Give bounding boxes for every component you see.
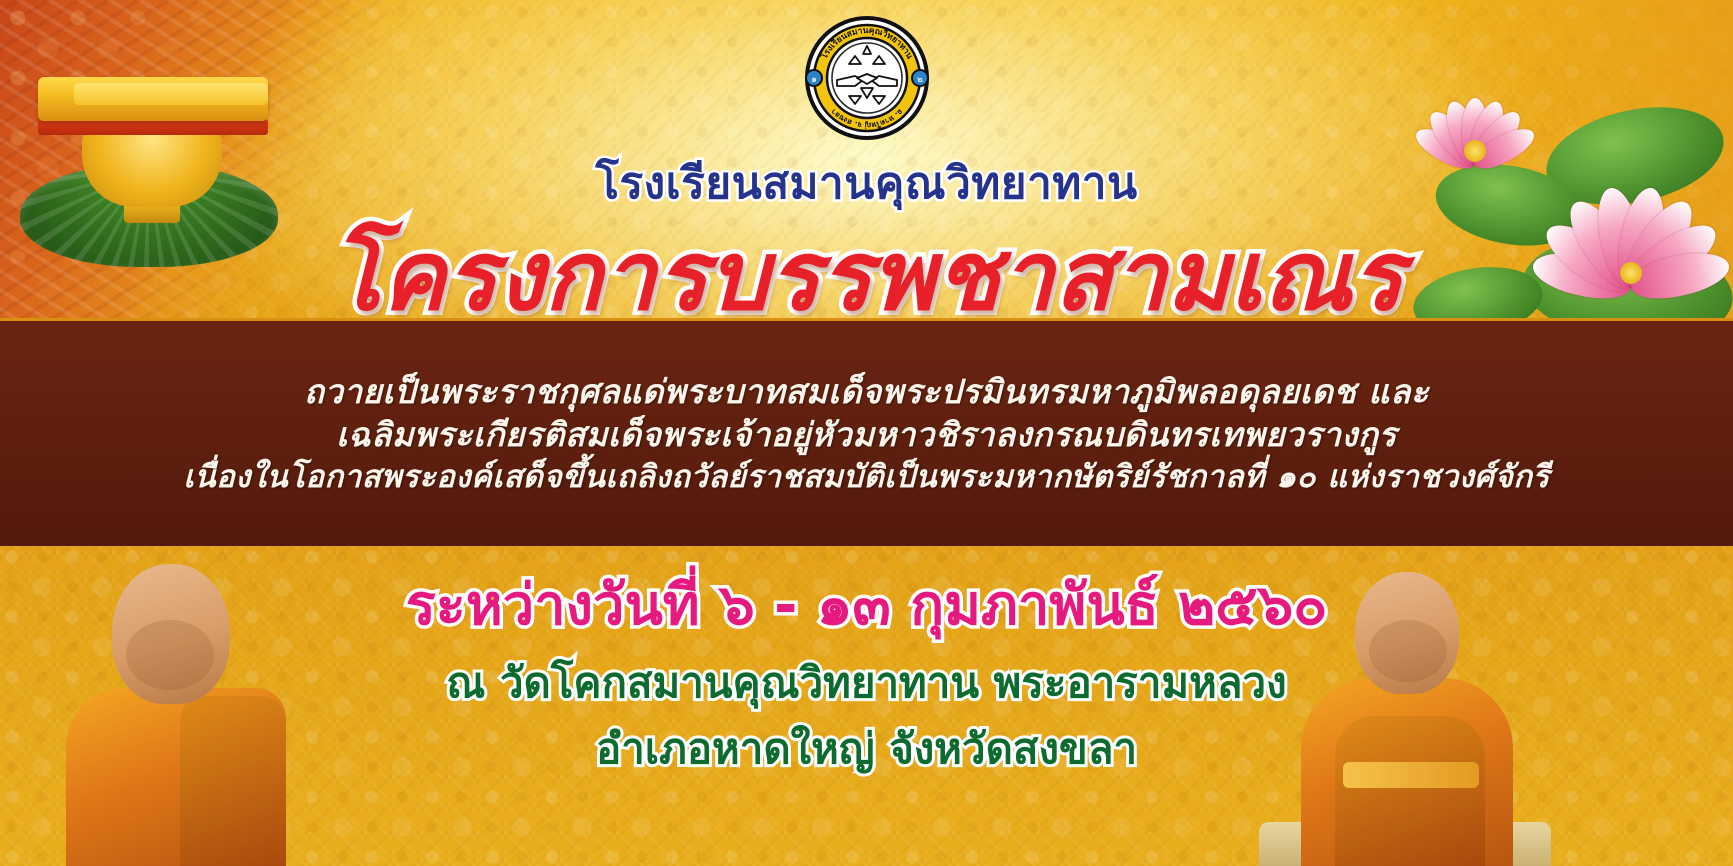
tray-red-band <box>38 119 268 135</box>
school-logo: โรงเรียนสมานคุณวิทยาทาน อ. หาดใหญ่ จ. สง… <box>803 14 931 142</box>
poster-banner: โรงเรียนสมานคุณวิทยาทาน อ. หาดใหญ่ จ. สง… <box>0 0 1733 866</box>
svg-text:๒: ๒ <box>917 75 923 85</box>
svg-text:๑: ๑ <box>811 75 817 85</box>
tray-lid-top <box>74 83 268 105</box>
dedication-line-1: ถวายเป็นพระราชกุศลแด่พระบาทสมเด็จพระปรมิ… <box>304 370 1429 414</box>
dedication-band: ถวายเป็นพระราชกุศลแด่พระบาทสมเด็จพระปรมิ… <box>0 318 1733 546</box>
novice-monk-photo-right <box>1283 566 1533 866</box>
monk-robe-shadow <box>180 696 286 866</box>
dedication-line-3: เนื่องในโอกาสพระองค์เสด็จขึ้นเถลิงถวัลย์… <box>183 457 1549 498</box>
monk-robe-shadow <box>1335 716 1485 866</box>
monk-face-shading <box>1369 620 1447 682</box>
dedication-line-2: เฉลิมพระเกียรติสมเด็จพระเจ้าอยู่หัวมหาวช… <box>336 413 1396 457</box>
monk-sash <box>1343 762 1479 788</box>
monk-face-shading <box>126 620 214 690</box>
tray-lid <box>38 77 268 121</box>
novice-monk-photo-left <box>60 546 290 866</box>
